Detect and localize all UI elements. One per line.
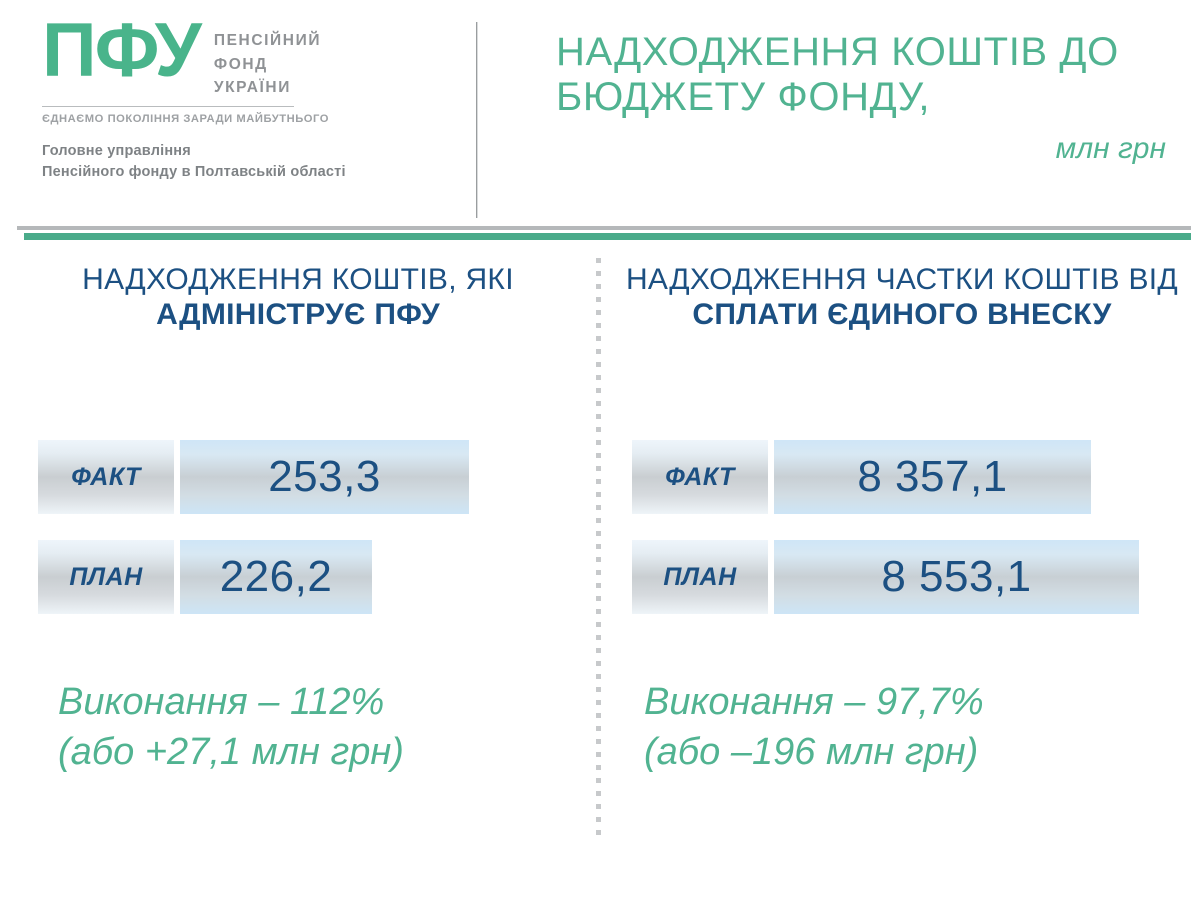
bar-row: ПЛАН 8 553,1 [632, 540, 1139, 614]
panel-left-heading: НАДХОДЖЕННЯ КОШТІВ, ЯКІ АДМІНІСТРУЄ ПФУ [18, 262, 578, 333]
logo-word-line-3: УКРАЇНИ [214, 76, 321, 100]
logo-word-line-1: ПЕНСІЙНИЙ [214, 29, 321, 53]
title-unit-label: млн грн [556, 132, 1176, 166]
logo-wordmark: ПЕНСІЙНИЙ ФОНД УКРАЇНИ [214, 29, 321, 100]
organization-line-2: Пенсійного фонду в Полтавській області [42, 162, 442, 183]
logo-row: ПФУ ПЕНСІЙНИЙ ФОНД УКРАЇНИ [42, 22, 442, 100]
header-rule-gray [17, 226, 1191, 230]
header-vertical-divider [476, 22, 478, 218]
bar-row: ФАКТ 8 357,1 [632, 440, 1139, 514]
panel-right: НАДХОДЖЕННЯ ЧАСТКИ КОШТІВ ВІД СПЛАТИ ЄДИ… [622, 262, 1182, 333]
panel-left-heading-part2: АДМІНІСТРУЄ ПФУ [156, 298, 440, 331]
bar-row: ПЛАН 226,2 [38, 540, 469, 614]
page-header: ПФУ ПЕНСІЙНИЙ ФОНД УКРАЇНИ ЄДНАЄМО ПОКОЛ… [0, 0, 1200, 222]
panel-left: НАДХОДЖЕННЯ КОШТІВ, ЯКІ АДМІНІСТРУЄ ПФУ … [18, 262, 578, 333]
pfu-logo-block: ПФУ ПЕНСІЙНИЙ ФОНД УКРАЇНИ ЄДНАЄМО ПОКОЛ… [42, 22, 442, 184]
bar-label-fact: ФАКТ [38, 440, 174, 514]
panel-left-bars: ФАКТ 253,3 ПЛАН 226,2 [38, 440, 469, 640]
title-block: НАДХОДЖЕННЯ КОШТІВ ДО БЮДЖЕТУ ФОНДУ, млн… [556, 30, 1176, 166]
bar-label-plan: ПЛАН [38, 540, 174, 614]
panel-left-heading-part1: НАДХОДЖЕННЯ КОШТІВ, ЯКІ [82, 263, 514, 296]
header-rule-green [24, 233, 1191, 240]
panel-left-conclusion: Виконання – 112% (або +27,1 млн грн) [58, 677, 404, 777]
panel-right-heading-part1: НАДХОДЖЕННЯ ЧАСТКИ КОШТІВ ВІД [626, 263, 1178, 296]
organization-name: Головне управління Пенсійного фонду в По… [42, 141, 442, 184]
logo-divider-rule [42, 106, 294, 107]
column-dotted-divider [596, 258, 601, 842]
pfu-logo-icon: ПФУ [42, 16, 200, 86]
panel-right-heading: НАДХОДЖЕННЯ ЧАСТКИ КОШТІВ ВІД СПЛАТИ ЄДИ… [622, 262, 1182, 333]
bar-label-fact: ФАКТ [632, 440, 768, 514]
logo-word-line-2: ФОНД [214, 53, 321, 77]
panel-right-heading-part2: СПЛАТИ ЄДИНОГО ВНЕСКУ [692, 298, 1111, 331]
logo-tagline: ЄДНАЄМО ПОКОЛІННЯ ЗАРАДИ МАЙБУТНЬОГО [42, 113, 442, 125]
bar-row: ФАКТ 253,3 [38, 440, 469, 514]
bar-value-fact: 8 357,1 [774, 440, 1091, 514]
page-title: НАДХОДЖЕННЯ КОШТІВ ДО БЮДЖЕТУ ФОНДУ, [556, 30, 1176, 120]
panel-right-conclusion: Виконання – 97,7% (або –196 млн грн) [644, 677, 984, 777]
bar-value-plan: 226,2 [180, 540, 372, 614]
organization-line-1: Головне управління [42, 141, 442, 162]
panel-right-bars: ФАКТ 8 357,1 ПЛАН 8 553,1 [632, 440, 1139, 640]
bar-value-plan: 8 553,1 [774, 540, 1139, 614]
bar-label-plan: ПЛАН [632, 540, 768, 614]
bar-value-fact: 253,3 [180, 440, 469, 514]
